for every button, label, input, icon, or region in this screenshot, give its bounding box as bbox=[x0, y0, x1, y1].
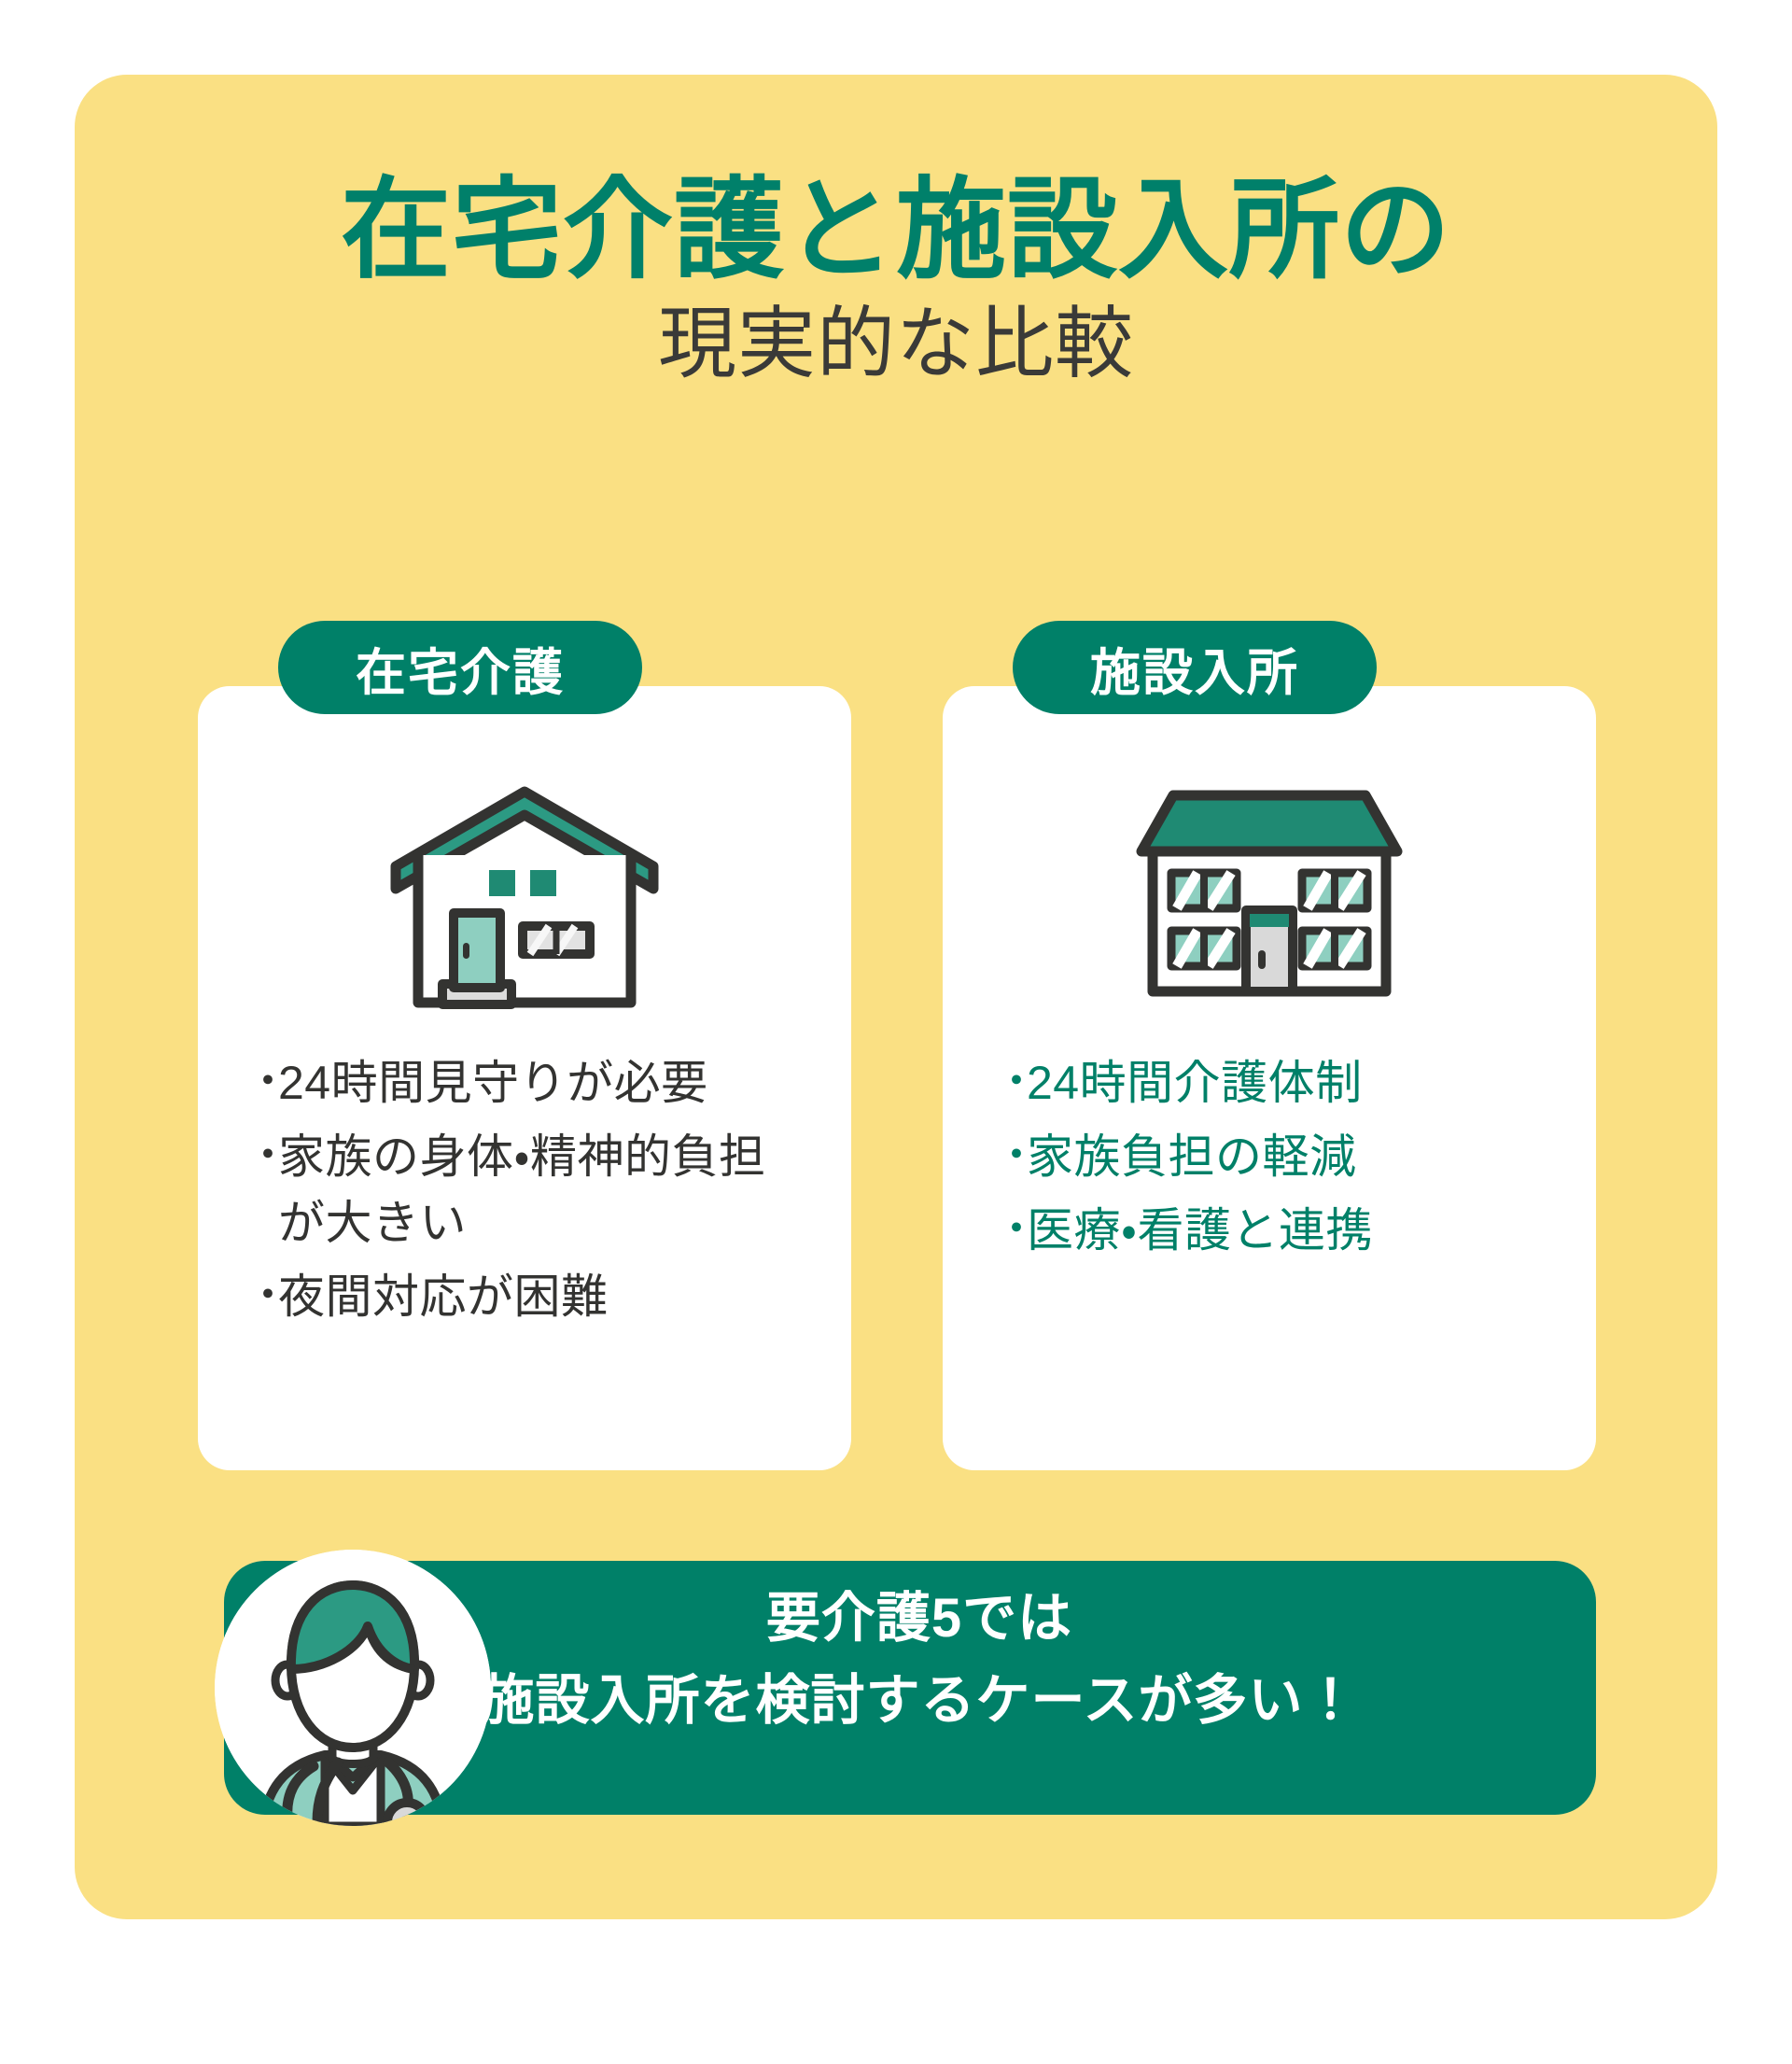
house-icon bbox=[198, 784, 851, 1013]
card-header-home-care: 在宅介護 bbox=[278, 621, 642, 714]
conclusion-banner-text: 要介護5では 施設入所を検討するケースが多い！ bbox=[317, 1578, 1521, 1742]
bullet-text: 24時間見守りが必要 bbox=[278, 1050, 808, 1116]
bullet-text: 24時間介護体制 bbox=[1027, 1050, 1553, 1116]
bullet-text: 夜間対応が困難 bbox=[278, 1264, 808, 1330]
card-facility-care: ・ 24時間介護体制 ・ 家族負担の軽減 ・ 医療・看護と連携 bbox=[943, 686, 1596, 1470]
bullet-marker: ・ bbox=[995, 1198, 1027, 1260]
bullet-text: 医療・看護と連携 bbox=[1027, 1198, 1553, 1264]
bullet-marker: ・ bbox=[995, 1124, 1027, 1186]
page-subtitle: 現実的な比較 bbox=[75, 297, 1717, 391]
list-item: ・ 医療・看護と連携 bbox=[995, 1198, 1553, 1264]
list-item: ・ 夜間対応が困難 bbox=[246, 1264, 808, 1330]
facility-building-icon bbox=[943, 784, 1596, 999]
list-item: ・ 24時間介護体制 bbox=[995, 1050, 1553, 1116]
list-item: ・ 家族の身体・精神的負担が大きい bbox=[246, 1124, 808, 1257]
bullet-marker: ・ bbox=[995, 1050, 1027, 1113]
banner-line-2: 施設入所を検討するケースが多い！ bbox=[317, 1660, 1521, 1742]
bullet-text: 家族の身体・精神的負担が大きい bbox=[278, 1124, 808, 1257]
bullet-marker: ・ bbox=[246, 1050, 278, 1113]
page-title: 在宅介護と施設入所の bbox=[75, 166, 1717, 296]
bullet-list-home-care: ・ 24時間見守りが必要 ・ 家族の身体・精神的負担が大きい ・ 夜間対応が困難 bbox=[198, 1050, 851, 1338]
banner-line-1: 要介護5では bbox=[317, 1578, 1521, 1660]
infographic-poster: 在宅介護と施設入所の 現実的な比較 bbox=[0, 0, 1792, 2064]
list-item: ・ 24時間見守りが必要 bbox=[246, 1050, 808, 1116]
card-header-facility-care: 施設入所 bbox=[1013, 621, 1377, 714]
bullet-list-facility-care: ・ 24時間介護体制 ・ 家族負担の軽減 ・ 医療・看護と連携 bbox=[943, 1050, 1596, 1271]
bullet-marker: ・ bbox=[246, 1264, 278, 1327]
bullet-text: 家族負担の軽減 bbox=[1027, 1124, 1553, 1190]
bullet-marker: ・ bbox=[246, 1124, 278, 1186]
card-home-care: ・ 24時間見守りが必要 ・ 家族の身体・精神的負担が大きい ・ 夜間対応が困難 bbox=[198, 686, 851, 1470]
list-item: ・ 家族負担の軽減 bbox=[995, 1124, 1553, 1190]
